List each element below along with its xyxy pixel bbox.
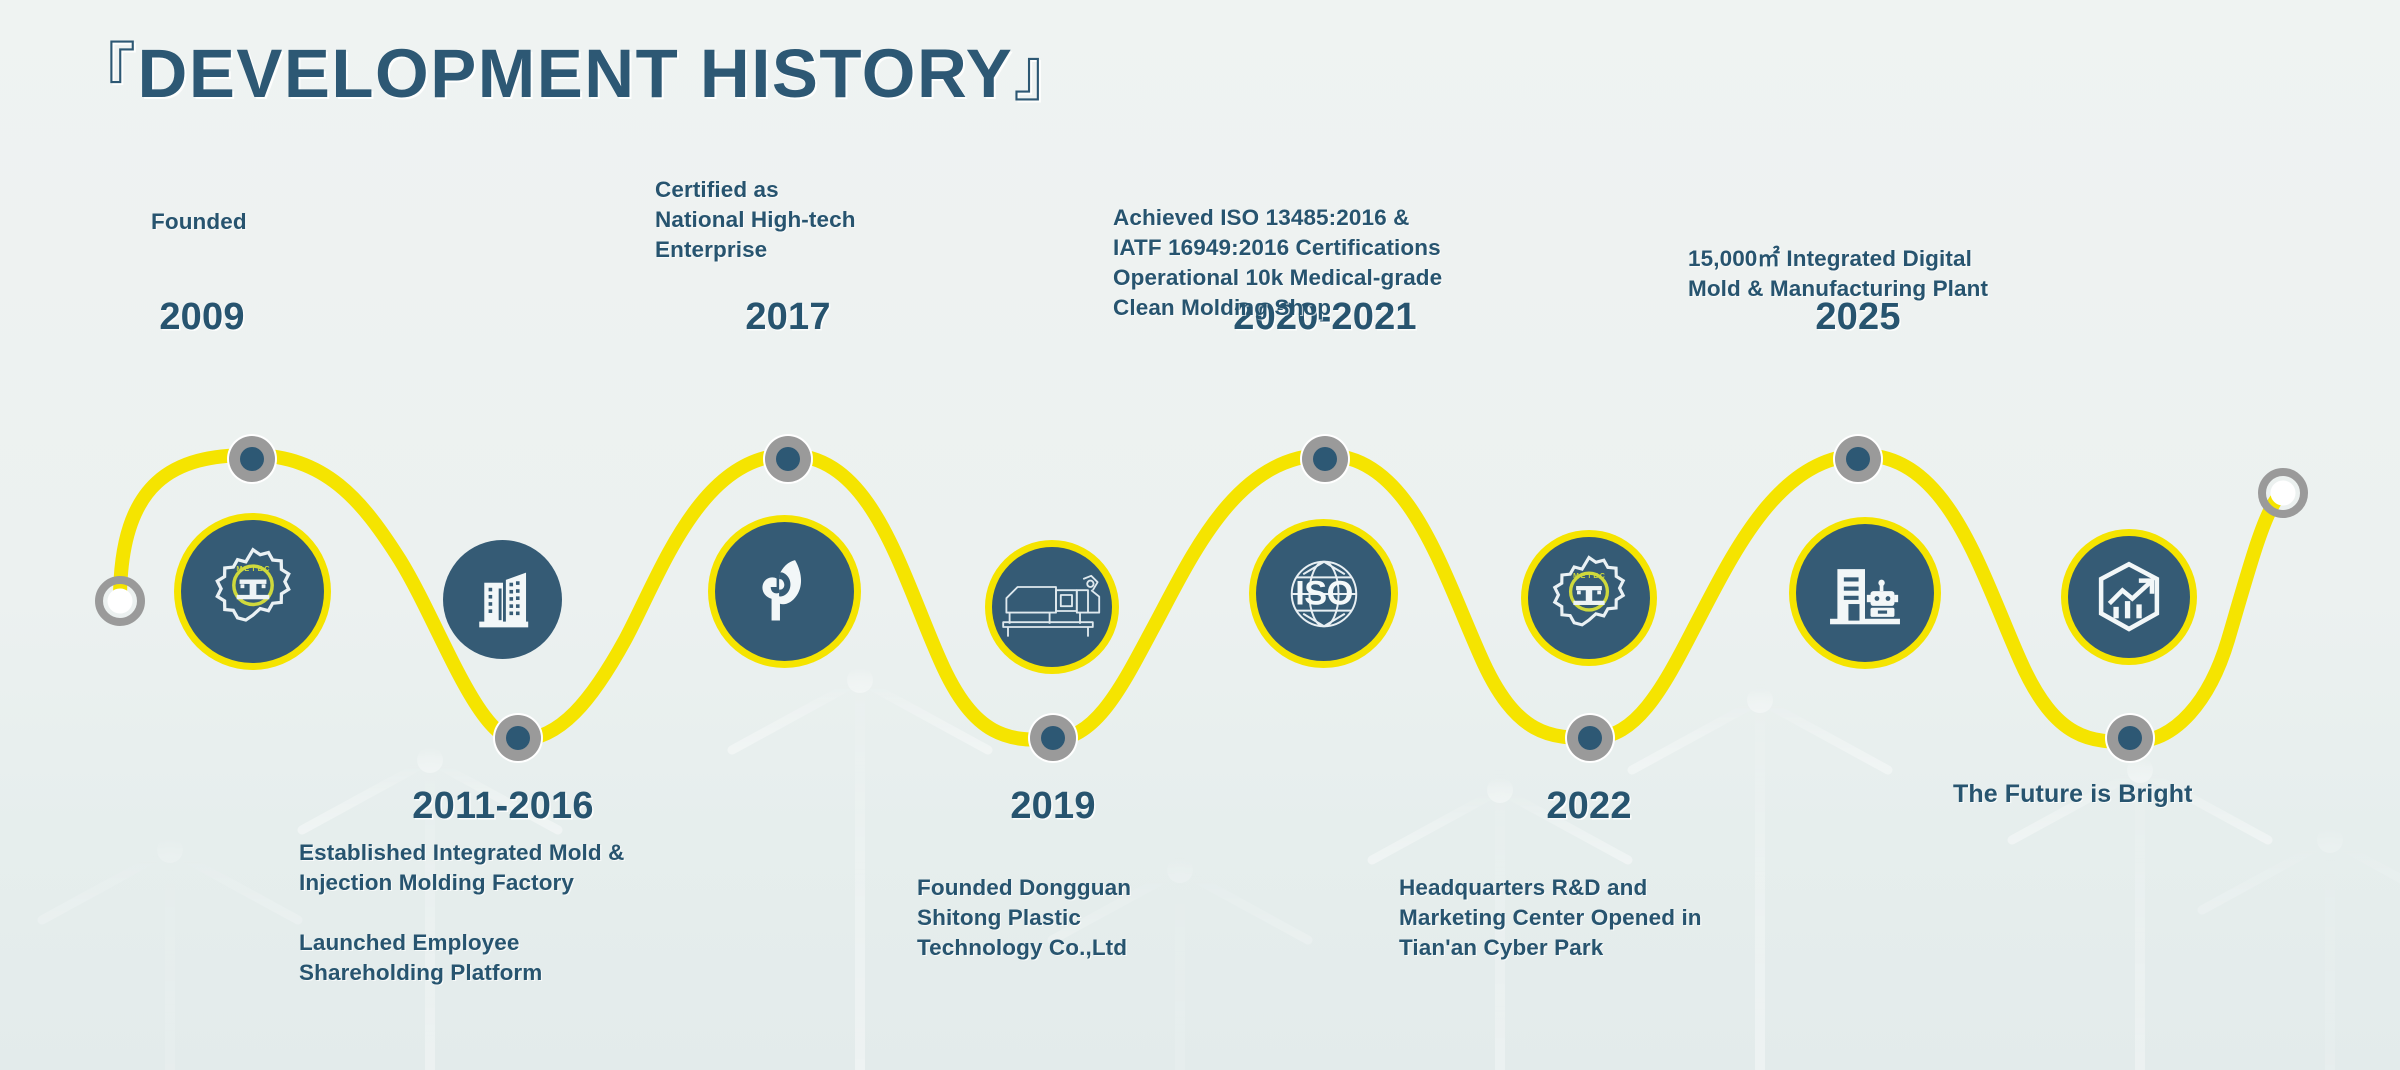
milestone-caption-2017: Certified as National High-tech Enterpri… [655,175,856,265]
timeline-node-2022[interactable] [1565,713,1615,763]
timeline-node-2017[interactable] [763,434,813,484]
milestone-icon-2009[interactable]: M E T E C [181,520,324,663]
svg-text:ISO: ISO [1295,574,1353,612]
caption-line: Operational 10k Medical-grade [1113,263,1442,293]
caption-line: IATF 16949:2016 Certifications [1113,233,1442,263]
milestone-caption-2019: Founded Dongguan Shitong Plastic Technol… [917,873,1131,963]
milestone-year-2019: 2019 [963,785,1143,828]
milestone-caption-2022: Headquarters R&D and Marketing Center Op… [1399,873,1702,963]
milestone-caption-2011-2016: Established Integrated Mold & Injection … [299,838,624,988]
growth-hexagon-icon [2088,556,2170,638]
caption-line: Achieved ISO 13485:2016 & [1113,203,1442,233]
gear-logo-icon: M E T E C [205,544,301,640]
timeline-end-marker [2262,472,2304,514]
caption-line: Mold & Manufacturing Plant [1688,274,1988,304]
caption-line: Certified as [655,175,856,205]
caption-line: Injection Molding Factory [299,868,624,898]
timeline-node-2011-2016[interactable] [493,713,543,763]
milestone-caption-future: The Future is Bright [1953,778,2193,811]
bracket-open-glyph: 『 [72,37,138,109]
milestone-year-2022: 2022 [1499,785,1679,828]
caption-line: National High-tech [655,205,856,235]
timeline-node-future[interactable] [2105,713,2155,763]
milestone-year-2009: 2009 [112,296,292,339]
timeline-node-2025[interactable] [1833,434,1883,484]
milestone-year-2017: 2017 [698,296,878,339]
page-title: 『DEVELOPMENT HISTORY』 [72,22,1079,114]
bracket-close-glyph: 』 [1013,37,1079,109]
milestone-caption-2025: 15,000㎡ Integrated Digital Mold & Manufa… [1688,244,1988,304]
caption-line: Technology Co.,Ltd [917,933,1131,963]
svg-text:M E T E C: M E T E C [1573,573,1605,580]
injection-molding-machine-icon [1000,568,1104,646]
caption-line: Shareholding Platform [299,958,624,988]
milestone-icon-future[interactable] [2068,536,2190,658]
office-buildings-icon [467,564,539,636]
caption-line: 15,000㎡ Integrated Digital [1688,244,1988,274]
milestone-icon-2019[interactable] [992,547,1112,667]
milestone-year-2011-2016: 2011-2016 [408,785,598,828]
caption-line: Headquarters R&D and [1399,873,1702,903]
page-title-text: DEVELOPMENT HISTORY [138,35,1014,112]
timeline-node-2009[interactable] [227,434,277,484]
caption-line: Founded Dongguan [917,873,1131,903]
caption-line: Clean Molding Shop [1113,293,1442,323]
caption-line: Enterprise [655,235,856,265]
timeline-node-2020-2021[interactable] [1300,434,1350,484]
milestone-icon-2020-2021[interactable]: ISO [1256,526,1391,661]
gear-logo-icon: M E T E C [1543,552,1635,644]
milestone-icon-2022[interactable]: M E T E C [1528,537,1650,659]
caption-line: Shitong Plastic [917,903,1131,933]
milestone-caption-2009: Founded [151,207,247,237]
milestone-icon-2025[interactable] [1796,524,1934,662]
svg-text:M E T E C: M E T E C [236,563,269,572]
milestone-caption-2020-2021: Achieved ISO 13485:2016 & IATF 16949:201… [1113,203,1442,323]
caption-line: Established Integrated Mold & [299,838,624,868]
smart-plant-robot-icon [1819,547,1911,639]
caption-line: Tian'an Cyber Park [1399,933,1702,963]
milestone-icon-2011-2016[interactable] [443,540,562,659]
caption-line: Launched Employee [299,928,624,958]
timeline-node-2019[interactable] [1028,713,1078,763]
hightech-flame-icon [743,550,827,634]
iso-globe-icon: ISO [1272,542,1376,646]
milestone-icon-2017[interactable] [715,522,854,661]
caption-line: Marketing Center Opened in [1399,903,1702,933]
